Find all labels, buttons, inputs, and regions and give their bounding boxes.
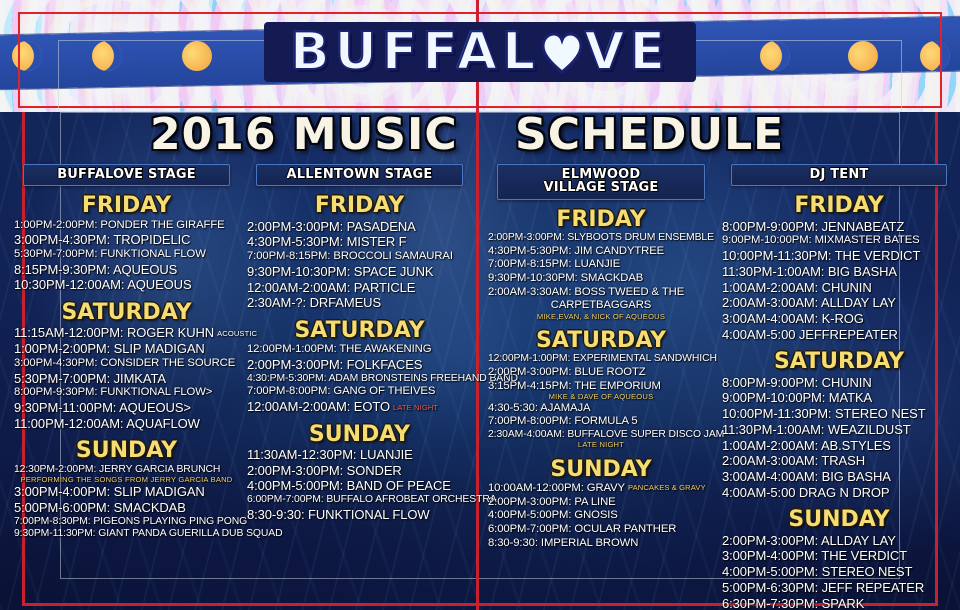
- stage-header-2[interactable]: ALLENTOWN STAGE: [256, 164, 464, 186]
- slot-time-and-act: 10:00AM-12:00PM: GRAVY: [488, 482, 625, 494]
- slot-time-and-act: 2:00PM-3:00PM: PASADENA: [247, 219, 416, 234]
- schedule-slot[interactable]: 9:00PM-10:00PM: MATKA: [722, 390, 956, 406]
- slot-time-and-act: 6:00PM-7:00PM: OCULAR PANTHER: [488, 523, 676, 535]
- stage-column: ELMWOOD VILLAGE STAGEFRIDAY2:00PM-3:00PM…: [476, 164, 718, 610]
- slot-time-and-act: 12:00PM-1:00PM: THE AWAKENING: [247, 343, 431, 355]
- slot-time-and-act: 4:30-5:30: AJAMAJA: [488, 402, 590, 414]
- slot-time-and-act: 9:30PM-10:30PM: SPACE JUNK: [247, 264, 433, 279]
- schedule-slot[interactable]: 9:30PM-10:30PM: SMACKDAB: [488, 272, 714, 286]
- day-heading: SATURDAY: [247, 319, 472, 342]
- brand-wordmark-part-1: BUFFAL: [290, 22, 540, 82]
- slot-time-and-act: 2:00AM-3:00AM: TRASH: [722, 453, 865, 468]
- slot-time-and-act: 8:30-9:30: IMPERIAL BROWN: [488, 537, 638, 549]
- slot-time-and-act: 2:30AM-?: DRFAMEUS: [247, 295, 381, 310]
- slot-time-and-act: 12:00PM-1:00PM: EXPERIMENTAL SANDWHICH: [488, 353, 717, 364]
- schedule-slot[interactable]: 5:00PM-6:30PM: JEFF REPEATER: [722, 580, 956, 596]
- slot-time-and-act: 7:00PM-8:15PM: BROCCOLI SAMAURAI: [247, 250, 453, 262]
- schedule-slot[interactable]: 4:00AM-5:00 DRAG N DROP: [722, 485, 956, 501]
- stage-header-3[interactable]: ELMWOOD VILLAGE STAGE: [497, 164, 705, 200]
- schedule-slot[interactable]: 4:00PM-5:00PM: GNOSIS: [488, 509, 714, 523]
- day-gap: [247, 415, 472, 421]
- stage-column: ALLENTOWN STAGEFRIDAY2:00PM-3:00PM: PASA…: [243, 164, 476, 610]
- slot-time-and-act: 3:00PM-4:30PM: TROPIDELIC: [14, 232, 190, 247]
- slot-time-and-act: 2:00PM-3:00PM: FOLKFACES: [247, 357, 422, 372]
- schedule-slot[interactable]: 11:15AM-12:00PM: ROGER KUHNACOUSTIC: [14, 325, 239, 341]
- day-heading: SATURDAY: [14, 301, 239, 324]
- day-gap: [14, 431, 239, 437]
- slot-time-and-act: 12:00AM-2:00AM: PARTICLE: [247, 280, 415, 295]
- slot-time-and-act: 3:00PM-4:30PM: CONSIDER THE SOURCE: [14, 357, 235, 369]
- slot-time-and-act: 3:15PM-4:15PM: THE EMPORIUM: [488, 380, 661, 392]
- slot-time-and-act: 1:00AM-2:00AM: AB.STYLES: [722, 438, 891, 453]
- slot-time-and-act: 11:30AM-12:30PM: LUANJIE: [247, 447, 413, 462]
- slot-time-and-act: 8:00PM-9:00PM: CHUNIN: [722, 375, 872, 390]
- day-gap: [247, 311, 472, 317]
- brand-wordmark-plate: BUFFALVE: [264, 22, 696, 82]
- slot-time-and-act: 3:00AM-4:00AM: BIG BASHA: [722, 469, 891, 484]
- schedule-slot[interactable]: 8:00PM-9:30PM: FUNKTIONAL FLOW>: [14, 386, 239, 400]
- page-title-left: 2016 MUSIC: [150, 108, 458, 162]
- schedule-slot[interactable]: 3:15PM-4:15PM: THE EMPORIUMMIKE & DAVE O…: [488, 380, 714, 402]
- schedule-slot[interactable]: 2:00PM-3:00PM: FOLKFACES: [247, 357, 472, 373]
- schedule-slot[interactable]: 3:00AM-4:00AM: BIG BASHA: [722, 469, 956, 485]
- slot-time-and-act: 8:00PM-9:00PM: JENNABEATZ: [722, 219, 904, 234]
- schedule-slot[interactable]: 6:00PM-7:00PM: BUFFALO AFROBEAT ORCHESTR…: [247, 494, 472, 507]
- schedule-slot[interactable]: 4:30PM-5:30PM: JIM CANDYTREE: [488, 245, 714, 259]
- schedule-slot[interactable]: 2:00AM-3:00AM: ALLDAY LAY: [722, 295, 956, 311]
- schedule-slot[interactable]: 9:30PM-10:30PM: SPACE JUNK: [247, 264, 472, 280]
- stage-name: ALLENTOWN STAGE: [263, 168, 457, 181]
- schedule-columns: BUFFALOVE STAGEFRIDAY1:00PM-2:00PM: POND…: [0, 164, 960, 610]
- slot-continuation: CARPETBAGGARS: [488, 299, 714, 313]
- slot-time-and-act: 2:00PM-3:00PM: ALLDAY LAY: [722, 533, 896, 548]
- day-gap: [488, 321, 714, 327]
- slot-time-and-act: 5:30PM-7:00PM: FUNKTIONAL FLOW: [14, 248, 206, 260]
- heart-icon: [541, 31, 583, 75]
- slot-time-and-act: 4:00PM-5:00PM: GNOSIS: [488, 509, 618, 521]
- poster-title-row: 2016 MUSIC SCHEDULE: [0, 108, 960, 164]
- schedule-slot[interactable]: 2:00AM-3:30AM: BOSS TWEED & THECARPETBAG…: [488, 286, 714, 322]
- stage-name: DJ TENT: [738, 168, 939, 181]
- schedule-slot[interactable]: 9:00PM-10:00PM: MIXMASTER BATES: [722, 234, 956, 248]
- schedule-slot[interactable]: 11:30PM-1:00AM: WEAZILDUST: [722, 422, 956, 438]
- schedule-slot[interactable]: 8:15PM-9:30PM: AQUEOUS: [14, 262, 239, 278]
- schedule-slot[interactable]: 4:00PM-5:00PM: BAND OF PEACE: [247, 478, 472, 494]
- slot-note: LATE NIGHT: [393, 403, 438, 412]
- schedule-slot[interactable]: 7:00PM-8:30PM: PIGEONS PLAYING PING PONG: [14, 516, 239, 529]
- slot-time-and-act: 4:00PM-5:00PM: BAND OF PEACE: [247, 478, 451, 493]
- slot-time-and-act: 3:00PM-4:00PM: SLIP MADIGAN: [14, 484, 205, 499]
- schedule-slot[interactable]: 12:00PM-1:00PM: THE AWAKENING: [247, 343, 472, 357]
- slot-subnote: LATE NIGHT: [488, 440, 714, 449]
- day-gap: [722, 342, 956, 348]
- schedule-slot[interactable]: 3:00AM-4:00AM: K-ROG: [722, 311, 956, 327]
- schedule-slot[interactable]: 2:00AM-3:00AM: TRASH: [722, 453, 956, 469]
- slot-note: PANCAKES & GRAVY: [628, 483, 706, 492]
- schedule-slot[interactable]: 2:00PM-3:00PM: ALLDAY LAY: [722, 533, 956, 549]
- schedule-slot[interactable]: 11:00PM-12:00AM: AQUAFLOW: [14, 416, 239, 432]
- schedule-slot[interactable]: 2:30AM-4:00AM: BUFFALOVE SUPER DISCO JAM…: [488, 429, 714, 450]
- schedule-slot[interactable]: 3:00PM-4:00PM: SLIP MADIGAN: [14, 484, 239, 500]
- schedule-slot[interactable]: 5:30PM-7:00PM: FUNKTIONAL FLOW: [14, 248, 239, 262]
- schedule-slot[interactable]: 2:00PM-3:00PM: PA LINE: [488, 496, 714, 510]
- day-heading: SUNDAY: [247, 423, 472, 446]
- schedule-slot[interactable]: 2:00PM-3:00PM: SLYBOOTS DRUM ENSEMBLE: [488, 232, 714, 245]
- day-heading: SUNDAY: [14, 439, 239, 462]
- slot-time-and-act: 1:00PM-2:00PM: PONDER THE GIRAFFE: [14, 219, 225, 231]
- day-gap: [722, 500, 956, 506]
- schedule-slot[interactable]: 10:00AM-12:00PM: GRAVYPANCAKES & GRAVY: [488, 482, 714, 496]
- schedule-slot[interactable]: 2:30AM-?: DRFAMEUS: [247, 295, 472, 311]
- slot-time-and-act: 7:00PM-8:30PM: PIGEONS PLAYING PING PONG: [14, 516, 247, 527]
- slot-time-and-act: 2:00PM-3:00PM: PA LINE: [488, 496, 616, 508]
- schedule-slot[interactable]: 3:00PM-4:30PM: TROPIDELIC: [14, 232, 239, 248]
- schedule-slot[interactable]: 10:00PM-11:30PM: THE VERDICT: [722, 248, 956, 264]
- slot-subnote: PERFORMING THE SONGS FROM JERRY GARCIA B…: [14, 475, 239, 484]
- slot-time-and-act: 1:00AM-2:00AM: CHUNIN: [722, 280, 872, 295]
- slot-time-and-act: 8:15PM-9:30PM: AQUEOUS: [14, 262, 177, 277]
- stage-column: BUFFALOVE STAGEFRIDAY1:00PM-2:00PM: POND…: [0, 164, 243, 610]
- slot-subnote: MIKE,EVAN, & NICK OF AQUEOUS: [488, 312, 714, 321]
- schedule-slot[interactable]: 8:00PM-9:00PM: CHUNIN: [722, 375, 956, 391]
- slot-subnote: MIKE & DAVE OF AQUEOUS: [488, 392, 714, 401]
- slot-time-and-act: 2:00PM-3:00PM: SONDER: [247, 463, 402, 478]
- slot-time-and-act: 9:00PM-10:00PM: MATKA: [722, 390, 872, 405]
- schedule-slot[interactable]: 7:00PM-8:00PM: FORMULA 5: [488, 415, 714, 429]
- day-heading: FRIDAY: [488, 208, 714, 231]
- slot-time-and-act: 10:30PM-12:00AM: AQUEOUS: [14, 277, 192, 292]
- slot-time-and-act: 12:30PM-2:00PM: JERRY GARCIA BRUNCH: [14, 464, 220, 475]
- slot-time-and-act: 12:00AM-2:00AM: EOTO: [247, 399, 390, 414]
- slot-time-and-act: 8:00PM-9:30PM: FUNKTIONAL FLOW>: [14, 386, 212, 398]
- schedule-slot[interactable]: 7:00PM-8:00PM: GANG OF THEIVES: [247, 385, 472, 399]
- schedule-slot[interactable]: 10:30PM-12:00AM: AQUEOUS: [14, 277, 239, 293]
- slot-time-and-act: 6:00PM-7:00PM: BUFFALO AFROBEAT ORCHESTR…: [247, 494, 497, 505]
- slot-time-and-act: 3:00PM-4:00PM: THE VERDICT: [722, 548, 907, 563]
- schedule-slot[interactable]: 11:30AM-12:30PM: LUANJIE: [247, 447, 472, 463]
- slot-time-and-act: 7:00PM-8:15PM: LUANJIE: [488, 258, 620, 270]
- slot-time-and-act: 7:00PM-8:00PM: GANG OF THEIVES: [247, 385, 435, 397]
- slot-time-and-act: 2:00AM-3:00AM: ALLDAY LAY: [722, 295, 896, 310]
- schedule-slot[interactable]: 12:00AM-2:00AM: EOTOLATE NIGHT: [247, 399, 472, 415]
- schedule-slot[interactable]: 2:00PM-3:00PM: BLUE ROOTZ: [488, 366, 714, 380]
- stage-name: ELMWOOD VILLAGE STAGE: [504, 168, 698, 195]
- slot-time-and-act: 4:30PM-5:30PM: JIM CANDYTREE: [488, 245, 664, 257]
- schedule-slot[interactable]: 9:30PM-11:30PM: GIANT PANDA GUERILLA DUB…: [14, 528, 239, 541]
- day-heading: SUNDAY: [722, 508, 956, 531]
- schedule-slot[interactable]: 12:00AM-2:00AM: PARTICLE: [247, 280, 472, 296]
- schedule-slot[interactable]: 4:00AM-5:00 JEFFREPEATER: [722, 327, 956, 343]
- brand-wordmark-text: BUFFALVE: [290, 22, 670, 82]
- stage-header-4[interactable]: DJ TENT: [731, 164, 946, 186]
- slot-time-and-act: 11:30PM-1:00AM: BIG BASHA: [722, 264, 897, 279]
- slot-time-and-act: 3:00AM-4:00AM: K-ROG: [722, 311, 864, 326]
- day-heading: SATURDAY: [488, 329, 714, 352]
- schedule-slot[interactable]: 4:00PM-5:00PM: STEREO NEST: [722, 564, 956, 580]
- schedule-slot[interactable]: 12:30PM-2:00PM: JERRY GARCIA BRUNCHPERFO…: [14, 464, 239, 485]
- slot-time-and-act: 4:30PM-5:30PM: MISTER F: [247, 234, 407, 249]
- slot-time-and-act: 2:00AM-3:30AM: BOSS TWEED & THE: [488, 286, 684, 298]
- festival-schedule-poster: BUFFALVE 2016 MUSIC SCHEDULE BUFFALOVE S…: [0, 0, 960, 610]
- brand-wordmark: BUFFALVE: [0, 22, 960, 82]
- slot-time-and-act: 10:00PM-11:30PM: THE VERDICT: [722, 248, 920, 263]
- schedule-slot[interactable]: 8:30-9:30: IMPERIAL BROWN: [488, 537, 714, 551]
- stage-header-1[interactable]: BUFFALOVE STAGE: [23, 164, 231, 186]
- slot-time-and-act: 5:30PM-7:00PM: JIMKATA: [14, 371, 166, 386]
- brand-wordmark-part-2: VE: [584, 22, 670, 82]
- schedule-slot[interactable]: 1:00PM-2:00PM: PONDER THE GIRAFFE: [14, 219, 239, 233]
- schedule-slot[interactable]: 5:00PM-6:00PM: SMACKDAB: [14, 500, 239, 516]
- slot-time-and-act: 8:30-9:30: FUNKTIONAL FLOW: [247, 507, 430, 522]
- schedule-slot[interactable]: 5:30PM-7:00PM: JIMKATA: [14, 371, 239, 387]
- day-heading: SUNDAY: [488, 458, 714, 481]
- slot-time-and-act: 5:00PM-6:00PM: SMACKDAB: [14, 500, 186, 515]
- slot-time-and-act: 4:00AM-5:00 JEFFREPEATER: [722, 327, 898, 342]
- schedule-slot[interactable]: 6:30PM-7:30PM: SPARK: [722, 596, 956, 610]
- schedule-slot[interactable]: 3:00PM-4:30PM: CONSIDER THE SOURCE: [14, 357, 239, 371]
- stage-name: BUFFALOVE STAGE: [30, 168, 224, 181]
- slot-time-and-act: 10:00PM-11:30PM: STEREO NEST: [722, 406, 926, 421]
- slot-time-and-act: 9:30PM-11:00PM: AQUEOUS>: [14, 400, 191, 415]
- schedule-slot[interactable]: 4:30PM-5:30PM: MISTER F: [247, 234, 472, 250]
- day-gap: [488, 450, 714, 456]
- schedule-slot[interactable]: 7:00PM-8:15PM: LUANJIE: [488, 258, 714, 272]
- day-gap: [14, 293, 239, 299]
- slot-time-and-act: 11:30PM-1:00AM: WEAZILDUST: [722, 422, 911, 437]
- schedule-slot[interactable]: 6:00PM-7:00PM: OCULAR PANTHER: [488, 523, 714, 537]
- slot-time-and-act: 6:30PM-7:30PM: SPARK: [722, 596, 864, 610]
- schedule-slot[interactable]: 2:00PM-3:00PM: PASADENA: [247, 219, 472, 235]
- slot-time-and-act: 2:00PM-3:00PM: SLYBOOTS DRUM ENSEMBLE: [488, 232, 714, 243]
- day-heading: FRIDAY: [247, 194, 472, 217]
- stage-column: DJ TENTFRIDAY8:00PM-9:00PM: JENNABEATZ9:…: [718, 164, 960, 610]
- schedule-slot[interactable]: 2:00PM-3:00PM: SONDER: [247, 463, 472, 479]
- schedule-slot[interactable]: 3:00PM-4:00PM: THE VERDICT: [722, 548, 956, 564]
- day-heading: FRIDAY: [14, 194, 239, 217]
- slot-time-and-act: 9:00PM-10:00PM: MIXMASTER BATES: [722, 234, 920, 246]
- slot-time-and-act: 11:00PM-12:00AM: AQUAFLOW: [14, 416, 200, 431]
- slot-time-and-act: 2:00PM-3:00PM: BLUE ROOTZ: [488, 366, 646, 378]
- schedule-slot[interactable]: 1:00AM-2:00AM: AB.STYLES: [722, 438, 956, 454]
- slot-time-and-act: 4:00PM-5:00PM: STEREO NEST: [722, 564, 912, 579]
- schedule-slot[interactable]: 1:00AM-2:00AM: CHUNIN: [722, 280, 956, 296]
- slot-time-and-act: 2:30AM-4:00AM: BUFFALOVE SUPER DISCO JAM: [488, 429, 724, 440]
- slot-time-and-act: 9:30PM-10:30PM: SMACKDAB: [488, 272, 643, 284]
- schedule-slot[interactable]: 12:00PM-1:00PM: EXPERIMENTAL SANDWHICH: [488, 353, 714, 366]
- slot-time-and-act: 11:15AM-12:00PM: ROGER KUHN: [14, 325, 214, 340]
- page-title-right: SCHEDULE: [515, 108, 784, 162]
- schedule-slot[interactable]: 11:30PM-1:00AM: BIG BASHA: [722, 264, 956, 280]
- slot-time-and-act: 7:00PM-8:00PM: FORMULA 5: [488, 415, 638, 427]
- slot-time-and-act: 4:00AM-5:00 DRAG N DROP: [722, 485, 889, 500]
- day-heading: SATURDAY: [722, 350, 956, 373]
- schedule-slot[interactable]: 4:30-5:30: AJAMAJA: [488, 402, 714, 416]
- schedule-slot[interactable]: 8:30-9:30: FUNKTIONAL FLOW: [247, 507, 472, 523]
- slot-time-and-act: 1:00PM-2:00PM: SLIP MADIGAN: [14, 341, 205, 356]
- schedule-slot[interactable]: 1:00PM-2:00PM: SLIP MADIGAN: [14, 341, 239, 357]
- schedule-slot[interactable]: 7:00PM-8:15PM: BROCCOLI SAMAURAI: [247, 250, 472, 264]
- schedule-slot[interactable]: 8:00PM-9:00PM: JENNABEATZ: [722, 219, 956, 235]
- day-heading: FRIDAY: [722, 194, 956, 217]
- slot-time-and-act: 5:00PM-6:30PM: JEFF REPEATER: [722, 580, 924, 595]
- schedule-slot[interactable]: 10:00PM-11:30PM: STEREO NEST: [722, 406, 956, 422]
- schedule-slot[interactable]: 9:30PM-11:00PM: AQUEOUS>: [14, 400, 239, 416]
- schedule-slot[interactable]: 4:30:PM-5:30PM: ADAM BRONSTEINS FREEHAND…: [247, 373, 472, 386]
